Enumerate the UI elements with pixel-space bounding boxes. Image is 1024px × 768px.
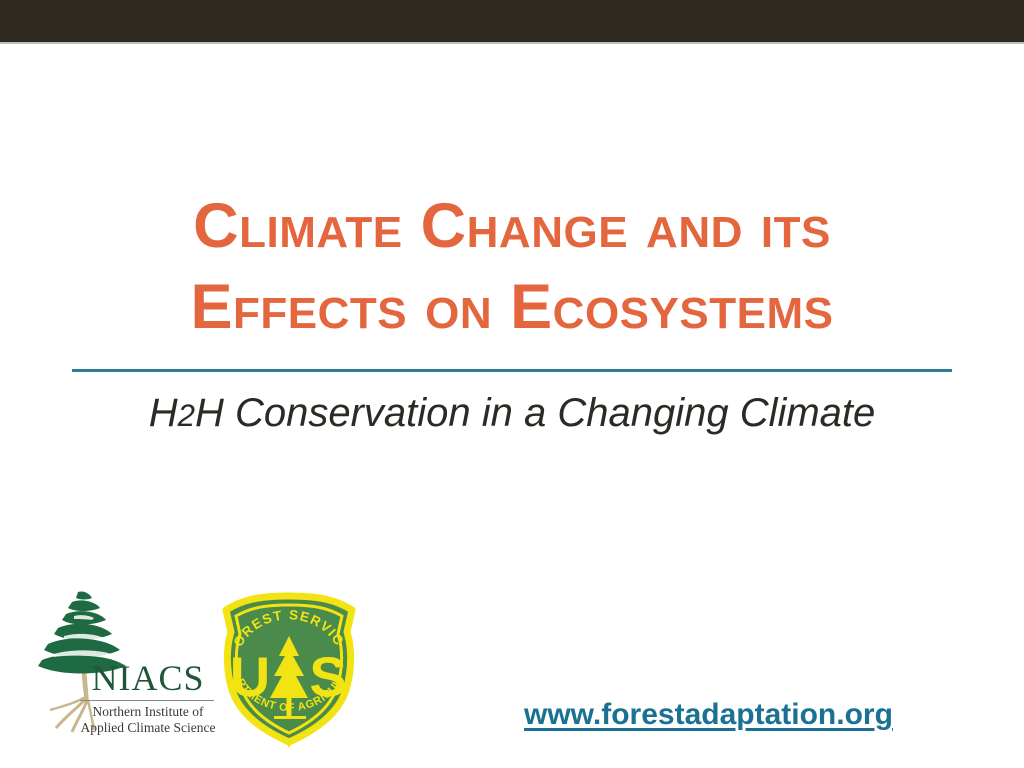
title-line-2: Effects on Ecosystems xyxy=(72,267,952,348)
subtitle-rest: H Conservation in a Changing Climate xyxy=(195,391,875,435)
page-title: Climate Change and its Effects on Ecosys… xyxy=(72,186,952,348)
title-divider xyxy=(72,369,952,372)
forest-service-shield-logo: FOREST SERVICE U S DEPARTMENT OF AGRICUL… xyxy=(216,592,362,748)
niacs-rule xyxy=(80,700,214,701)
niacs-tagline-line-1: Northern Institute of xyxy=(80,704,216,720)
website-url-link[interactable]: www.forestadaptation.org xyxy=(524,698,893,732)
top-decorative-bar xyxy=(0,0,1024,42)
niacs-tagline-line-2: Applied Climate Science xyxy=(80,720,216,736)
page-subtitle: H2H Conservation in a Changing Climate xyxy=(72,386,952,443)
subtitle-prefix: H xyxy=(149,391,178,435)
title-slide: Climate Change and its Effects on Ecosys… xyxy=(0,0,1024,768)
top-bar-underline xyxy=(0,42,1024,44)
niacs-logo: NIACS Northern Institute of Applied Clim… xyxy=(22,586,212,748)
subtitle-numeral: 2 xyxy=(178,398,195,433)
title-line-1: Climate Change and its xyxy=(72,186,952,267)
niacs-name: NIACS xyxy=(80,658,216,698)
niacs-wordmark: NIACS Northern Institute of Applied Clim… xyxy=(80,658,216,736)
